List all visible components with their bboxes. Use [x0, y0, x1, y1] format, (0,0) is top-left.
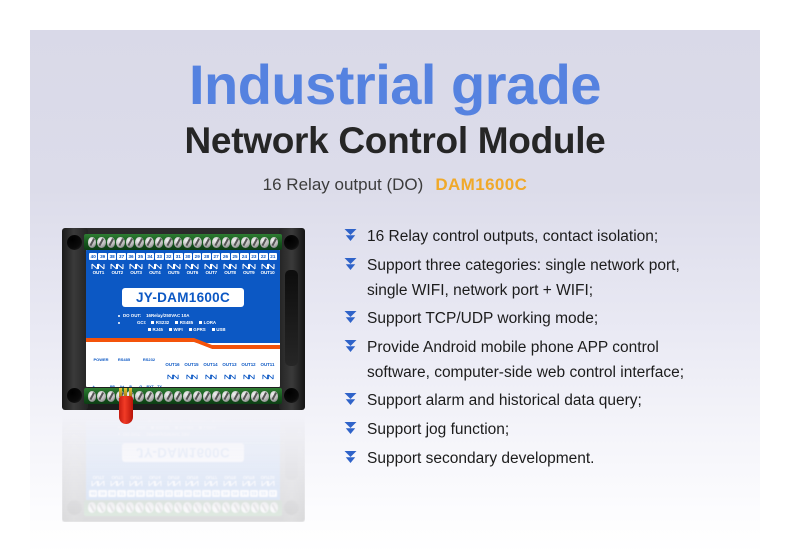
output-label: OUT8 — [221, 270, 240, 275]
reflection-part — [174, 503, 183, 514]
reflection-part — [193, 503, 202, 514]
output-label: OUT4 — [145, 270, 164, 275]
reflection-part — [251, 503, 260, 514]
list-item-label: Support three categories: single network… — [367, 253, 680, 303]
terminal-number: 29 — [193, 253, 201, 260]
list-item-label: Support jog function; — [367, 417, 509, 442]
reflection-part: 24 — [240, 490, 248, 497]
double-chevron-down-icon — [344, 257, 359, 279]
reflection-part — [108, 480, 126, 489]
faceplate: 4039383736353433323130292827262524232221… — [86, 250, 280, 387]
bullet-dot-icon — [118, 315, 120, 317]
terminal-number: 22 — [259, 253, 267, 260]
terminal-screw — [270, 391, 279, 402]
reflection-part: GPRS — [189, 417, 206, 424]
relay-coil-icon — [240, 261, 258, 270]
terminal-screw — [251, 237, 260, 248]
terminal-screw — [107, 237, 116, 248]
orange-divider — [86, 338, 280, 352]
relay-coil-icon — [89, 261, 107, 270]
terminal-screw — [135, 237, 144, 248]
checkbox-icon — [212, 328, 215, 331]
reflection-part — [202, 480, 220, 489]
terminal-screw — [231, 391, 240, 402]
screw-hole — [284, 235, 299, 250]
spec-gc-key: GCI: — [137, 319, 146, 326]
reflection-part: GCI: RS232 RS485 LORA — [118, 424, 276, 431]
checkbox-icon — [175, 321, 178, 324]
reflection-part — [97, 503, 106, 514]
bullet-dot-icon — [118, 322, 120, 324]
pin-sublabel — [258, 385, 267, 387]
reflection-part — [148, 419, 151, 422]
pin-sublabel — [211, 385, 220, 387]
terminal-screw — [116, 237, 125, 248]
terminal-screw — [193, 237, 202, 248]
list-item-label: Provide Android mobile phone APP control… — [367, 335, 684, 385]
reflection-part: RJ45 — [148, 417, 163, 424]
spec-gc-line: GCI: RS232 RS485 LORA — [118, 319, 276, 326]
reflection-part — [88, 503, 97, 514]
reflection-part: OUT2 — [108, 475, 127, 480]
reflection-part: 25 — [231, 490, 239, 497]
reflection-part: 26 — [221, 490, 229, 497]
relay-coil-icon — [202, 261, 220, 270]
terminal-number: 37 — [117, 253, 125, 260]
reflection-part: 4039383736353433323130292827262524232221… — [89, 475, 277, 497]
reflection-part: DO OUT: 16Relay/250VAC 10A GCI: RS232 RS… — [118, 417, 276, 438]
reflection-part — [84, 500, 282, 516]
reflection-part: 38 — [108, 490, 116, 497]
bottom-io-section: POWER RS485 RS232 OUT16OUT15OUT14OUT13OU… — [89, 354, 277, 387]
reflection-part — [183, 503, 192, 514]
reflection-part — [259, 480, 277, 489]
terminal-screw — [145, 237, 154, 248]
reflection-part — [151, 426, 154, 429]
reflection-part: GCI: — [137, 424, 146, 431]
list-item-label: Support secondary development. — [367, 446, 594, 471]
spec-do-key: DO OUT: — [123, 312, 141, 319]
output-label: OUT14 — [201, 362, 220, 385]
model-code: DAM1600C — [435, 175, 527, 194]
reflection-part: 40 — [89, 490, 97, 497]
reflection-part: 29 — [193, 490, 201, 497]
reflection-part — [145, 503, 154, 514]
spec-option: WIFI — [169, 326, 183, 333]
reflection-part — [67, 500, 82, 515]
relay-coil-icon — [184, 261, 202, 270]
reflection-part: OUT4 — [145, 475, 164, 480]
pin-sublabel: RXT — [145, 385, 154, 387]
spec-do-value: 16Relay/250VAC 10A — [146, 312, 189, 319]
output-label: OUT2 — [108, 270, 127, 275]
reflection-part — [284, 500, 299, 515]
checkbox-icon — [169, 328, 172, 331]
top-io-section: 4039383736353433323130292827262524232221… — [89, 253, 277, 275]
spec-option: RS485 — [175, 319, 193, 326]
reflection-part: 36 — [127, 490, 135, 497]
reflection-part: OUT10 — [258, 475, 277, 480]
header: Industrial grade Network Control Module … — [0, 56, 790, 195]
top-relay-coil-symbols — [89, 261, 277, 270]
relay-coil-icon — [165, 261, 183, 270]
reflection-part: 4039383736353433323130292827262524232221 — [89, 490, 277, 497]
output-label: OUT6 — [183, 270, 202, 275]
relay-coil-icon — [259, 261, 277, 270]
terminal-screw — [174, 391, 183, 402]
reflection-part — [222, 503, 231, 514]
spec-do-line: DO OUT: 16Relay/250VAC 10A — [118, 312, 276, 319]
reflection-part: USB — [212, 417, 226, 424]
list-item: Support jog function; — [344, 417, 774, 443]
device-reflection: 4039383736353433323130292827262524232221… — [62, 414, 305, 522]
pin-sublabel: B- — [127, 385, 136, 387]
reflection-part — [203, 503, 212, 514]
reflection-part — [184, 480, 202, 489]
reflection-part: 23 — [250, 490, 258, 497]
page-title: Industrial grade — [0, 56, 790, 115]
spec-option: USB — [212, 326, 226, 333]
brand-badge: JY-DAM1600C — [122, 288, 244, 307]
model-line: 16 Relay output (DO)DAM1600C — [0, 175, 790, 195]
list-item-label: Support TCP/UDP working mode; — [367, 306, 598, 331]
terminal-screw — [88, 391, 97, 402]
pin-sublabel — [221, 385, 230, 387]
pin-sublabel: A+ — [117, 385, 126, 387]
vent-slot — [285, 270, 298, 366]
bottom-pin-sublabels: +—PBA+B-GRXTTX — [89, 385, 277, 387]
terminal-number: 23 — [250, 253, 258, 260]
terminal-screw — [155, 237, 164, 248]
checkbox-icon — [199, 321, 202, 324]
pin-sublabel — [192, 385, 201, 387]
terminal-block-top — [84, 234, 282, 250]
terminal-screw — [97, 237, 106, 248]
list-item: Support TCP/UDP working mode; — [344, 306, 774, 332]
spec-option: GPRS — [189, 326, 206, 333]
reflection-part: DO OUT: — [123, 431, 141, 438]
reflection-part: 22 — [259, 490, 267, 497]
terminal-screw — [164, 237, 173, 248]
output-label: OUT1 — [89, 270, 108, 275]
double-chevron-down-icon — [344, 310, 359, 332]
reflection-part: LORA — [199, 424, 216, 431]
double-chevron-down-icon — [344, 392, 359, 414]
relay-coil-icon — [108, 261, 126, 270]
bottom-output-labels: OUT16OUT15OUT14OUT13OUT12OUT11 — [163, 362, 277, 385]
bottom-group-labels: POWER RS485 RS232 — [89, 354, 277, 362]
terminal-screw — [212, 391, 221, 402]
pin-sublabel — [183, 385, 192, 387]
reflection-part — [127, 480, 145, 489]
output-description: 16 Relay output (DO) — [263, 175, 424, 194]
reflection-part: RS232 — [151, 424, 169, 431]
top-output-labels: OUT1OUT2OUT3OUT4OUT5OUT6OUT7OUT8OUT9OUT1… — [89, 270, 277, 275]
double-chevron-down-icon — [344, 450, 359, 472]
terminal-screw — [88, 237, 97, 248]
terminal-screw — [135, 391, 144, 402]
terminal-screw — [183, 237, 192, 248]
reflection-part: 33 — [155, 490, 163, 497]
reflection-part — [270, 503, 279, 514]
reflection-part — [212, 419, 215, 422]
terminal-screw — [183, 391, 192, 402]
reflection-part — [199, 426, 202, 429]
terminal-screw — [145, 391, 154, 402]
reflection-part — [260, 503, 269, 514]
terminal-number: 35 — [136, 253, 144, 260]
reflection-part: JY-DAM1600C — [122, 443, 244, 462]
pin-sublabel — [249, 385, 258, 387]
terminal-number: 36 — [127, 253, 135, 260]
reflection-part — [89, 480, 107, 489]
reflection-part: OUT8 — [221, 475, 240, 480]
page-subtitle: Network Control Module — [0, 121, 790, 162]
spec-option: RS232 — [151, 319, 169, 326]
reflection-part: WIFI — [169, 417, 183, 424]
checkbox-icon — [151, 321, 154, 324]
reflection-part — [118, 427, 120, 429]
terminal-screw — [193, 391, 202, 402]
terminal-number: 27 — [212, 253, 220, 260]
brand-label: JY-DAM1600C — [136, 290, 230, 305]
terminal-screw — [231, 237, 240, 248]
reflection-part — [118, 434, 120, 436]
terminal-screw — [270, 237, 279, 248]
output-label: OUT7 — [202, 270, 221, 275]
output-label: OUT10 — [258, 270, 277, 275]
reflection-part: OUT3 — [127, 475, 146, 480]
list-item: Provide Android mobile phone APP control… — [344, 335, 774, 385]
pin-sublabel: + — [89, 385, 98, 387]
terminal-number: 26 — [221, 253, 229, 260]
terminal-screw — [251, 391, 260, 402]
terminal-number: 30 — [184, 253, 192, 260]
terminal-number: 39 — [98, 253, 106, 260]
screw-hole — [67, 235, 82, 250]
reflection-part: 16Relay/250VAC 10A — [146, 431, 189, 438]
reflection-part: 31 — [174, 490, 182, 497]
reflection-part: 34 — [146, 490, 154, 497]
relay-coil-icon — [221, 261, 239, 270]
reflection-part: OUT1 — [89, 475, 108, 480]
spec-options-line2: RJ45 WIFI GPRS USB — [118, 326, 276, 333]
reflection-part — [240, 480, 258, 489]
reflection-part: 27 — [212, 490, 220, 497]
terminal-screw — [203, 391, 212, 402]
output-label: OUT16 — [163, 362, 182, 385]
reflection-part — [126, 503, 135, 514]
reflection-part: RJ45 WIFI GPRS USB — [118, 417, 276, 424]
reflection-part — [169, 419, 172, 422]
reflection-part: 32 — [165, 490, 173, 497]
reflection-part — [165, 480, 183, 489]
output-label: OUT15 — [182, 362, 201, 385]
terminal-screw — [203, 237, 212, 248]
terminal-screw — [241, 391, 250, 402]
relay-module-device: 4039383736353433323130292827262524232221… — [62, 228, 305, 410]
pin-sublabel — [240, 385, 249, 387]
terminal-number: 25 — [231, 253, 239, 260]
product-banner: Industrial grade Network Control Module … — [0, 0, 790, 554]
reflection-part: JY-DAM1600C — [136, 445, 230, 460]
spec-block: DO OUT: 16Relay/250VAC 10A GCI: RS232 RS… — [118, 312, 276, 333]
screw-hole — [67, 388, 82, 403]
list-item-label: Support alarm and historical data query; — [367, 388, 642, 413]
reflection-part — [146, 480, 164, 489]
relay-coil-icon — [146, 261, 164, 270]
terminal-number: 40 — [89, 253, 97, 260]
output-label: OUT11 — [258, 362, 277, 385]
reflection-part: OUT1OUT2OUT3OUT4OUT5OUT6OUT7OUT8OUT9OUT1… — [89, 475, 277, 480]
product-image: 4039383736353433323130292827262524232221… — [62, 228, 332, 528]
terminal-number: 24 — [240, 253, 248, 260]
spec-option: LORA — [199, 319, 216, 326]
pin-sublabel: G — [136, 385, 145, 387]
reflection-part: 39 — [98, 490, 106, 497]
pin-sublabel: TX — [155, 385, 164, 387]
reflection-part: 28 — [202, 490, 210, 497]
reflection-part: OUT7 — [202, 475, 221, 480]
pin-sublabel — [202, 385, 211, 387]
reflection-part — [107, 503, 116, 514]
terminal-number: 21 — [269, 253, 277, 260]
mounting-bracket-right — [279, 228, 305, 410]
pin-sublabel — [230, 385, 239, 387]
terminal-number: 31 — [174, 253, 182, 260]
group-label-rs232: RS232 — [135, 357, 163, 362]
reflection-part: DO OUT: 16Relay/250VAC 10A — [118, 431, 276, 438]
terminal-screw — [164, 391, 173, 402]
reflection-part — [231, 503, 240, 514]
reflection-part: RS485 — [175, 424, 193, 431]
list-item-label: 16 Relay control outputs, contact isolat… — [367, 224, 658, 249]
pin-sublabel — [268, 385, 277, 387]
list-item: Support secondary development. — [344, 446, 774, 472]
reflection-part — [135, 503, 144, 514]
checkbox-icon — [148, 328, 151, 331]
terminal-screw — [97, 391, 106, 402]
reflection-part — [116, 503, 125, 514]
spec-option: RJ45 — [148, 326, 163, 333]
reflection-part — [212, 503, 221, 514]
reflection-part: OUT9 — [239, 475, 258, 480]
list-item: 16 Relay control outputs, contact isolat… — [344, 224, 774, 250]
output-label: OUT5 — [164, 270, 183, 275]
output-label: OUT12 — [239, 362, 258, 385]
terminal-block-bottom — [84, 388, 282, 404]
checkbox-icon — [189, 328, 192, 331]
terminal-screw — [260, 391, 269, 402]
terminal-screw — [174, 237, 183, 248]
reflection-part — [175, 426, 178, 429]
reflection-part — [86, 407, 280, 500]
pin-sublabel — [164, 385, 173, 387]
mounting-bracket-left — [62, 228, 88, 410]
double-chevron-down-icon — [344, 421, 359, 443]
list-item: Support alarm and historical data query; — [344, 388, 774, 414]
terminal-screw — [222, 237, 231, 248]
terminal-screw — [260, 237, 269, 248]
reflection-part: 30 — [184, 490, 192, 497]
terminal-screw — [126, 237, 135, 248]
output-label: OUT13 — [220, 362, 239, 385]
terminal-number: 32 — [165, 253, 173, 260]
terminal-number: 28 — [202, 253, 210, 260]
red-connector-plug — [119, 396, 133, 424]
pin-sublabel — [174, 385, 183, 387]
reflection-part: OUT5 — [164, 475, 183, 480]
reflection-part — [89, 480, 277, 489]
terminal-number: 38 — [108, 253, 116, 260]
reflection-part — [221, 480, 239, 489]
terminal-number: 34 — [146, 253, 154, 260]
terminal-screw — [241, 237, 250, 248]
pin-sublabel: PB — [108, 385, 117, 387]
reflection-part — [189, 419, 192, 422]
top-terminal-numbers: 4039383736353433323130292827262524232221 — [89, 253, 277, 260]
terminal-number: 33 — [155, 253, 163, 260]
double-chevron-down-icon — [344, 339, 359, 361]
feature-list: 16 Relay control outputs, contact isolat… — [344, 224, 774, 475]
group-label-rs485: RS485 — [113, 357, 135, 362]
reflection-part: 35 — [136, 490, 144, 497]
screw-hole — [284, 388, 299, 403]
relay-coil-icon — [127, 261, 145, 270]
output-label: OUT9 — [239, 270, 258, 275]
reflection-part: 21 — [269, 490, 277, 497]
reflection-part — [164, 503, 173, 514]
terminal-screw — [107, 391, 116, 402]
reflection-part — [155, 503, 164, 514]
terminal-screw — [155, 391, 164, 402]
reflection-part — [241, 503, 250, 514]
output-label: OUT3 — [127, 270, 146, 275]
group-label-power: POWER — [89, 357, 113, 362]
double-chevron-down-icon — [344, 228, 359, 250]
reflection-part: OUT6 — [183, 475, 202, 480]
list-item: Support three categories: single network… — [344, 253, 774, 303]
terminal-screw — [222, 391, 231, 402]
terminal-screw — [212, 237, 221, 248]
reflection-part: 37 — [117, 490, 125, 497]
pin-sublabel: — — [98, 385, 107, 387]
